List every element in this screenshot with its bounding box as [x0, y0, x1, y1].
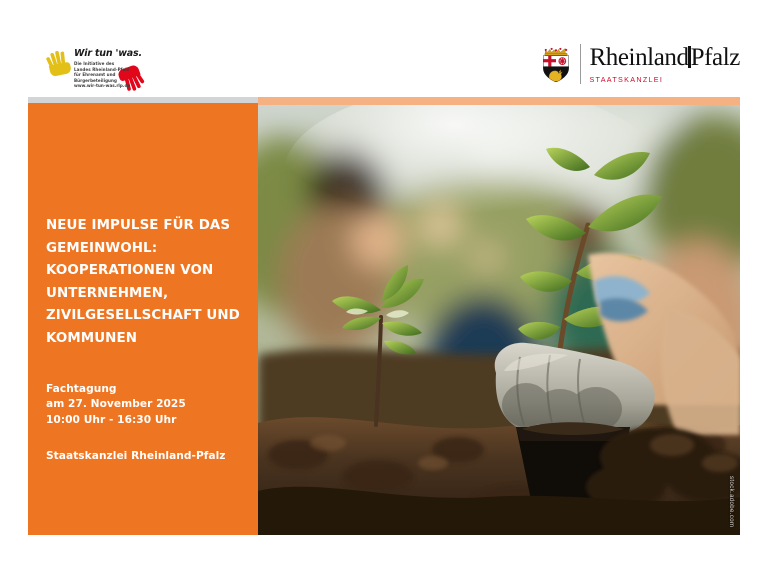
hero-photo: stock.adobe.com: [258, 105, 740, 535]
photo-watermark: stock.adobe.com: [728, 476, 734, 527]
staatskanzlei-label: STAATSKANZLEI: [589, 75, 740, 84]
title-line-6: KOMMUNEN: [46, 328, 242, 351]
title-panel: NEUE IMPULSE FÜR DAS GEMEINWOHL: KOOPERA…: [28, 103, 258, 535]
hero-photo-illustration: [258, 105, 740, 535]
rheinland-pfalz-staatskanzlei-logo: RheinlandPfalz STAATSKANZLEI: [541, 44, 740, 90]
title-line-2: GEMEINWOHL:: [46, 238, 242, 261]
photo-top-accent-rule: [258, 97, 740, 105]
wir-tun-was-logo-text: Wir tun 'was. Die Initiative des Landes …: [74, 48, 216, 89]
event-organizer: Staatskanzlei Rheinland-Pfalz: [46, 449, 242, 465]
title-line-3: KOOPERATIONEN VON: [46, 260, 242, 283]
event-date: am 27. November 2025: [46, 397, 242, 413]
title-line-4: UNTERNEHMEN,: [46, 283, 242, 306]
wordmark-pfalz: Pfalz: [691, 44, 740, 71]
event-details: Fachtagung am 27. November 2025 10:00 Uh…: [46, 382, 242, 429]
page-title: NEUE IMPULSE FÜR DAS GEMEINWOHL: KOOPERA…: [46, 215, 242, 351]
rheinland-pfalz-wordmark: RheinlandPfalz: [589, 44, 740, 72]
hand-yellow-icon: [44, 48, 75, 79]
wordmark-rheinland: Rheinland: [589, 44, 688, 71]
rheinland-pfalz-wordmark-block: RheinlandPfalz STAATSKANZLEI: [589, 44, 740, 84]
title-panel-content: NEUE IMPULSE FÜR DAS GEMEINWOHL: KOOPERA…: [46, 215, 242, 465]
rheinland-pfalz-coat-of-arms-icon: [541, 46, 571, 82]
title-line-1: NEUE IMPULSE FÜR DAS: [46, 215, 242, 238]
logo-claim: Wir tun 'was.: [74, 48, 216, 59]
logo-divider: [580, 44, 581, 84]
logo-url: www.wir-tun-was.rlp.de: [74, 83, 216, 89]
wir-tun-was-logo: Wir tun 'was. Die Initiative des Landes …: [46, 48, 216, 100]
title-line-5: ZIVILGESELLSCHAFT UND: [46, 305, 242, 328]
logo-subline-block: Die Initiative des Landes Rheinland-Pfal…: [74, 61, 216, 89]
page-header: Wir tun 'was. Die Initiative des Landes …: [0, 0, 768, 98]
event-type: Fachtagung: [46, 382, 242, 398]
event-time: 10:00 Uhr - 16:30 Uhr: [46, 413, 242, 429]
